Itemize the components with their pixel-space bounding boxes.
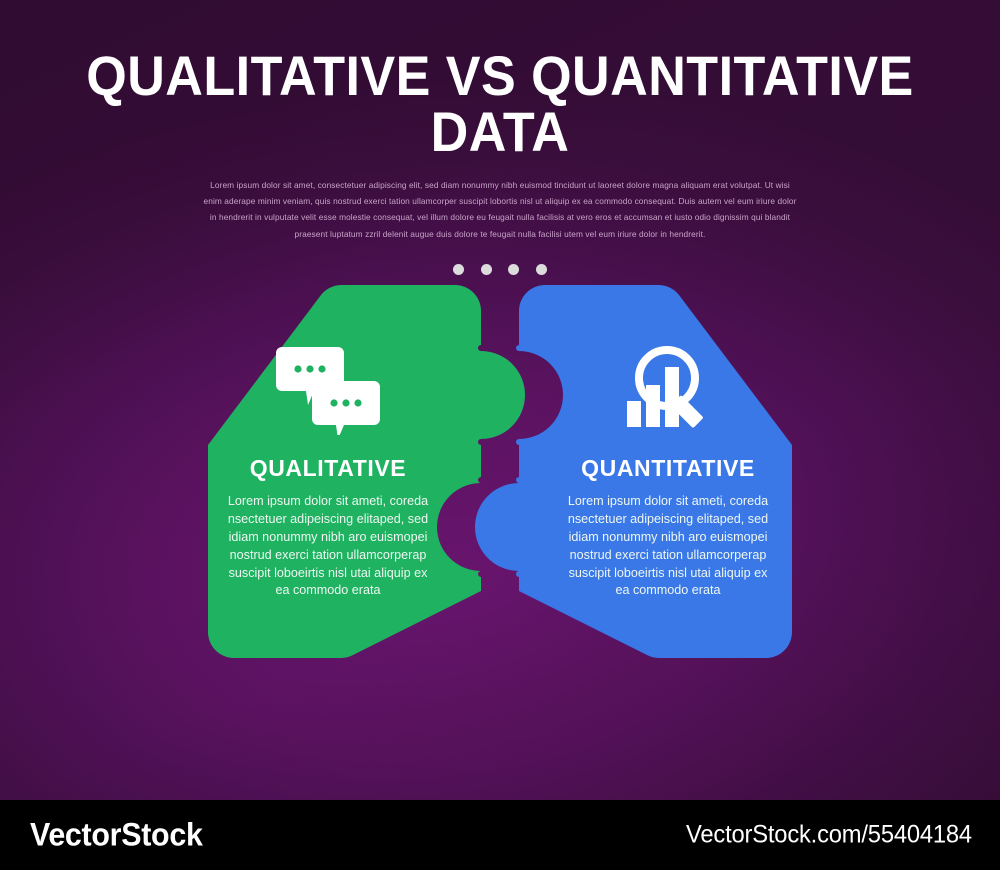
qualitative-description: Lorem ipsum dolor sit ameti, coreda nsec…: [222, 493, 434, 600]
vectorstock-logo: VectorStock: [30, 817, 203, 854]
infographic-canvas: QUALITATIVE VS QUANTITATIVE DATA Lorem i…: [0, 0, 1000, 870]
header: QUALITATIVE VS QUANTITATIVE DATA Lorem i…: [0, 0, 1000, 275]
separator-dot-4: [536, 264, 547, 275]
subtitle-paragraph: Lorem ipsum dolor sit amet, consectetuer…: [200, 177, 800, 242]
qualitative-text-block: QUALITATIVE Lorem ipsum dolor sit ameti,…: [222, 455, 434, 600]
dot-separator: [453, 264, 547, 275]
poster-stage: QUALITATIVE VS QUANTITATIVE DATA Lorem i…: [0, 0, 1000, 800]
page-title: QUALITATIVE VS QUANTITATIVE DATA: [35, 48, 965, 160]
separator-dot-1: [453, 264, 464, 275]
separator-dot-2: [481, 264, 492, 275]
puzzle-diagram: QUALITATIVE Lorem ipsum dolor sit ameti,…: [0, 255, 1000, 705]
vectorstock-url: VectorStock.com/55404184: [686, 821, 972, 850]
quantitative-description: Lorem ipsum dolor sit ameti, coreda nsec…: [562, 493, 774, 600]
magnifier-bar-chart-icon: [619, 343, 717, 435]
footer-bar: VectorStock VectorStock.com/55404184: [0, 800, 1000, 870]
separator-dot-3: [508, 264, 519, 275]
qualitative-title: QUALITATIVE: [222, 455, 434, 482]
quantitative-title: QUANTITATIVE: [562, 455, 774, 482]
quantitative-icon: [562, 340, 774, 435]
quantitative-text-block: QUANTITATIVE Lorem ipsum dolor sit ameti…: [562, 455, 774, 600]
qualitative-icon: [222, 340, 434, 435]
chat-bubbles-icon: [276, 343, 380, 435]
